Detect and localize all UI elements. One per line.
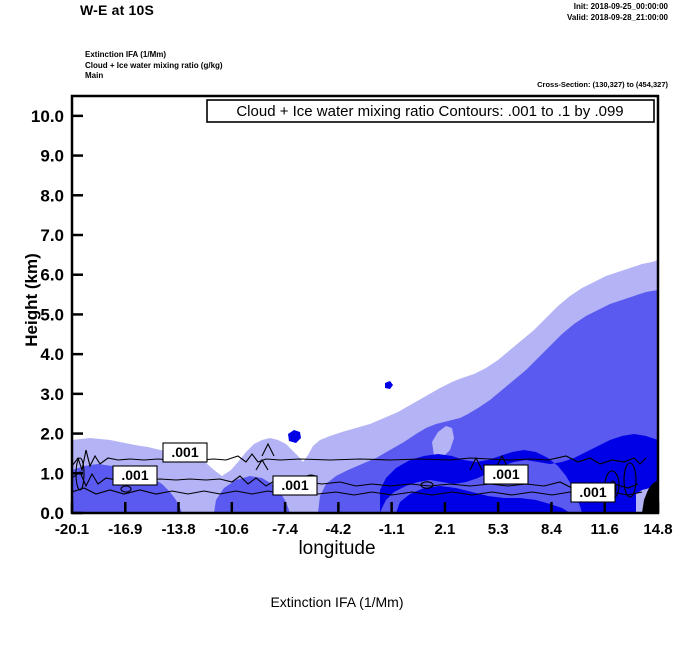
cross-section-plot: .001 .001 .001 .001 .001 Cloud + Ice wat… xyxy=(0,0,674,600)
x-tick-label: 2.1 xyxy=(434,521,455,538)
x-tick-label: 11.6 xyxy=(591,521,619,538)
y-tick-label: 4.0 xyxy=(40,345,64,364)
x-tick-label: -7.4 xyxy=(272,521,299,538)
y-tick-label: 10.0 xyxy=(31,107,64,126)
x-tick-label: -1.1 xyxy=(379,521,405,538)
contour-label-text: .001 xyxy=(281,477,308,493)
x-tick-label: 5.3 xyxy=(488,521,509,538)
x-tick-label: -20.1 xyxy=(55,521,89,538)
plot-title-box: Cloud + Ice water mixing ratio Contours:… xyxy=(207,100,654,122)
y-tick-label: 9.0 xyxy=(40,147,64,166)
contour-label: .001 xyxy=(484,465,528,484)
plot-title-text: Cloud + Ice water mixing ratio Contours:… xyxy=(236,103,623,120)
y-tick-label: 1.0 xyxy=(40,464,64,483)
x-tick-label: -13.8 xyxy=(161,521,195,538)
contour-label-text: .001 xyxy=(171,444,198,460)
contour-label-text: .001 xyxy=(579,484,606,500)
contour-label: .001 xyxy=(113,466,157,485)
x-tick-label: 8.4 xyxy=(541,521,563,538)
contour-label: .001 xyxy=(571,483,615,502)
contour-label-text: .001 xyxy=(492,466,519,482)
x-tick-label: 14.8 xyxy=(643,521,672,538)
x-tick-label: -4.2 xyxy=(325,521,351,538)
contour-label-text: .001 xyxy=(121,467,148,483)
y-tick-label: 2.0 xyxy=(40,425,64,444)
y-tick-label: 8.0 xyxy=(40,186,64,205)
y-tick-label: 5.0 xyxy=(40,305,64,324)
y-tick-label: 7.0 xyxy=(40,226,64,245)
contour-label: .001 xyxy=(163,443,207,462)
x-tick-label: -16.9 xyxy=(108,521,142,538)
y-tick-label: 3.0 xyxy=(40,385,64,404)
plot-svg: .001 .001 .001 .001 .001 Cloud + Ice wat… xyxy=(0,0,674,600)
y-tick-label: 6.0 xyxy=(40,266,64,285)
x-tick-label: -10.6 xyxy=(215,521,249,538)
contour-label: .001 xyxy=(273,476,317,495)
